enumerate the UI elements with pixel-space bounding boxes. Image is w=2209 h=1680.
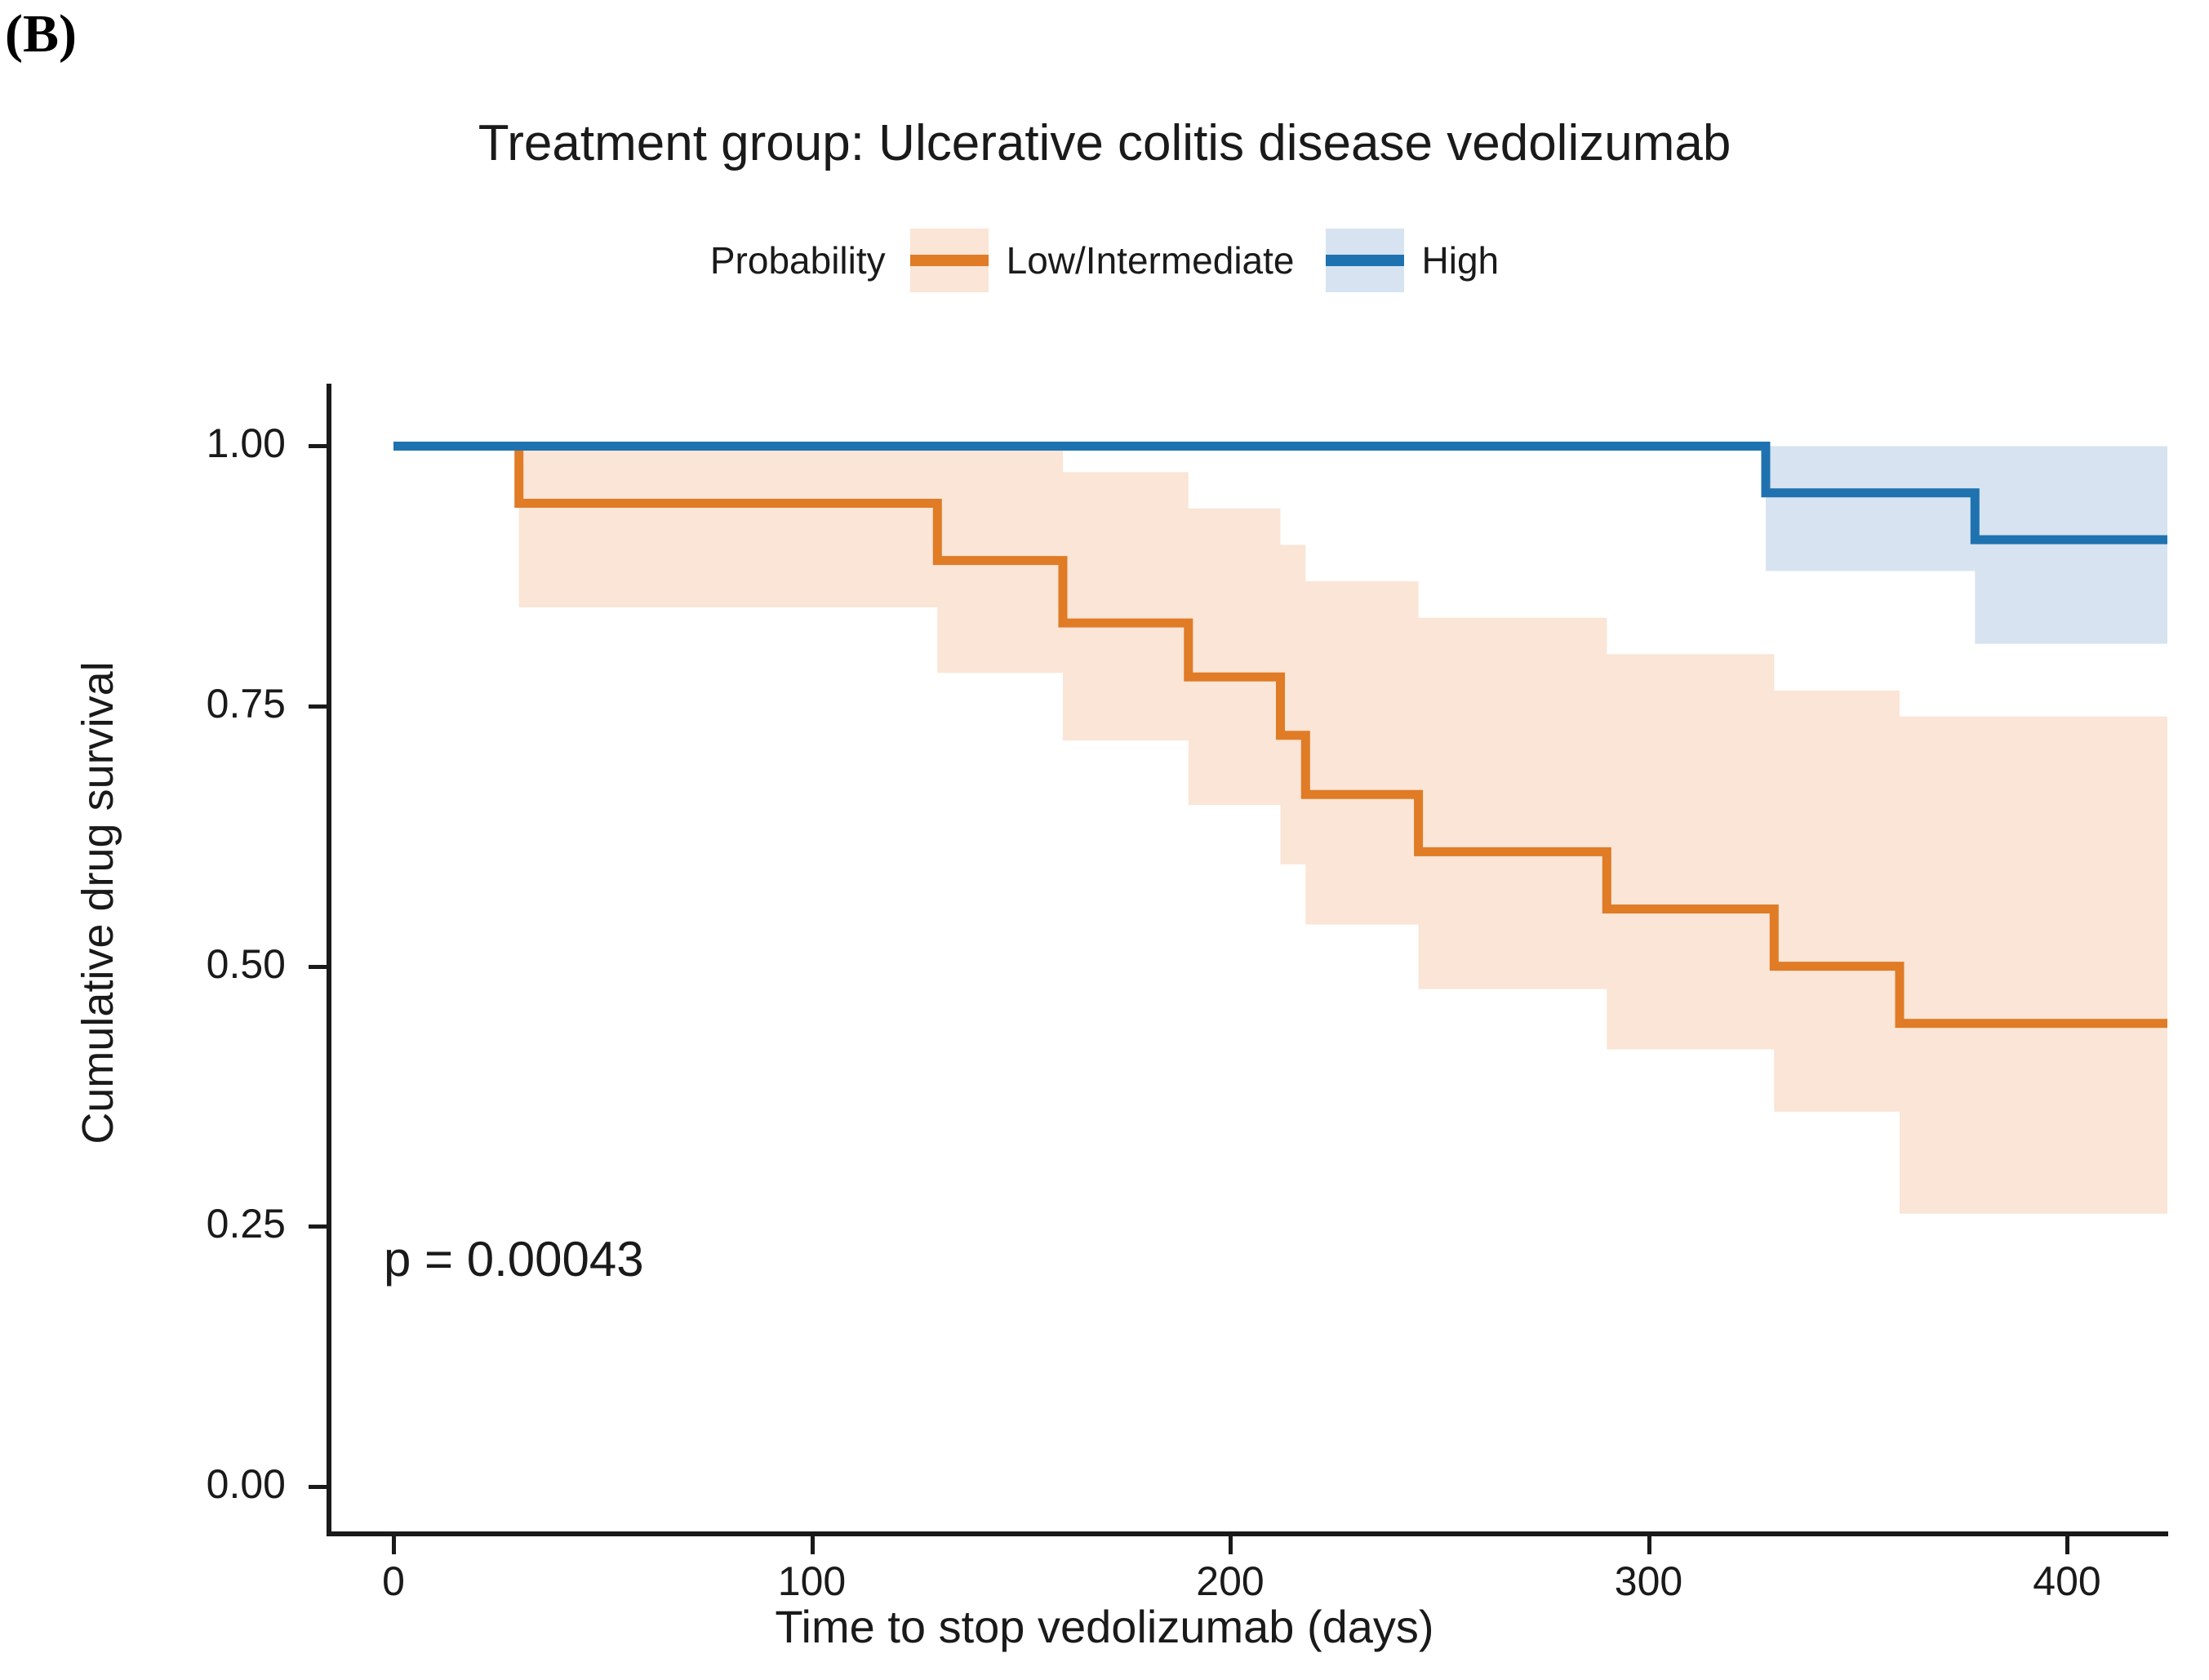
x-tick-mark (1229, 1536, 1233, 1554)
x-axis-title: Time to stop vedolizumab (days) (0, 1600, 2209, 1653)
x-tick-label: 100 (706, 1558, 918, 1605)
y-axis-title: Cumulative drug survival (73, 413, 123, 1393)
y-tick-label: 0.75 (106, 680, 286, 727)
legend-swatch-high (1326, 229, 1404, 292)
y-tick-label: 0.00 (106, 1460, 286, 1508)
y-axis-line (327, 384, 331, 1536)
panel-label: (B) (5, 3, 77, 65)
legend-label-low-intermediate: Low/Intermediate (1007, 238, 1295, 282)
legend-line-high (1326, 255, 1404, 266)
legend-line-low-intermediate (910, 255, 989, 266)
legend-entry-high[interactable]: High (1326, 229, 1500, 292)
y-tick-mark (309, 1224, 327, 1229)
x-tick-label: 400 (1961, 1558, 2173, 1605)
survival-curves (327, 384, 2167, 1533)
legend-swatch-low-intermediate (910, 229, 989, 292)
x-tick-mark (2065, 1536, 2069, 1554)
x-tick-label: 200 (1124, 1558, 1336, 1605)
y-tick-label: 0.50 (106, 940, 286, 988)
x-tick-mark (811, 1536, 815, 1554)
x-tick-label: 300 (1543, 1558, 1755, 1605)
pvalue-annotation: p = 0.00043 (384, 1231, 644, 1287)
x-tick-mark (392, 1536, 396, 1554)
y-tick-mark (309, 704, 327, 709)
plot-area (327, 384, 2167, 1533)
y-tick-mark (309, 444, 327, 448)
y-tick-label: 1.00 (106, 420, 286, 467)
x-axis-line (327, 1531, 2168, 1536)
confidence-band-high (1766, 447, 2167, 644)
legend-label-high: High (1422, 238, 1500, 282)
legend-entry-low-intermediate[interactable]: Low/Intermediate (910, 229, 1295, 292)
x-tick-mark (1647, 1536, 1651, 1554)
y-tick-label: 0.25 (106, 1200, 286, 1247)
y-tick-mark (309, 1485, 327, 1489)
chart-title: Treatment group: Ulcerative colitis dise… (0, 114, 2209, 172)
x-tick-label: 0 (287, 1558, 500, 1605)
chart-legend: Probability Low/Intermediate High (0, 229, 2209, 292)
legend-title: Probability (710, 238, 886, 282)
y-tick-mark (309, 965, 327, 969)
